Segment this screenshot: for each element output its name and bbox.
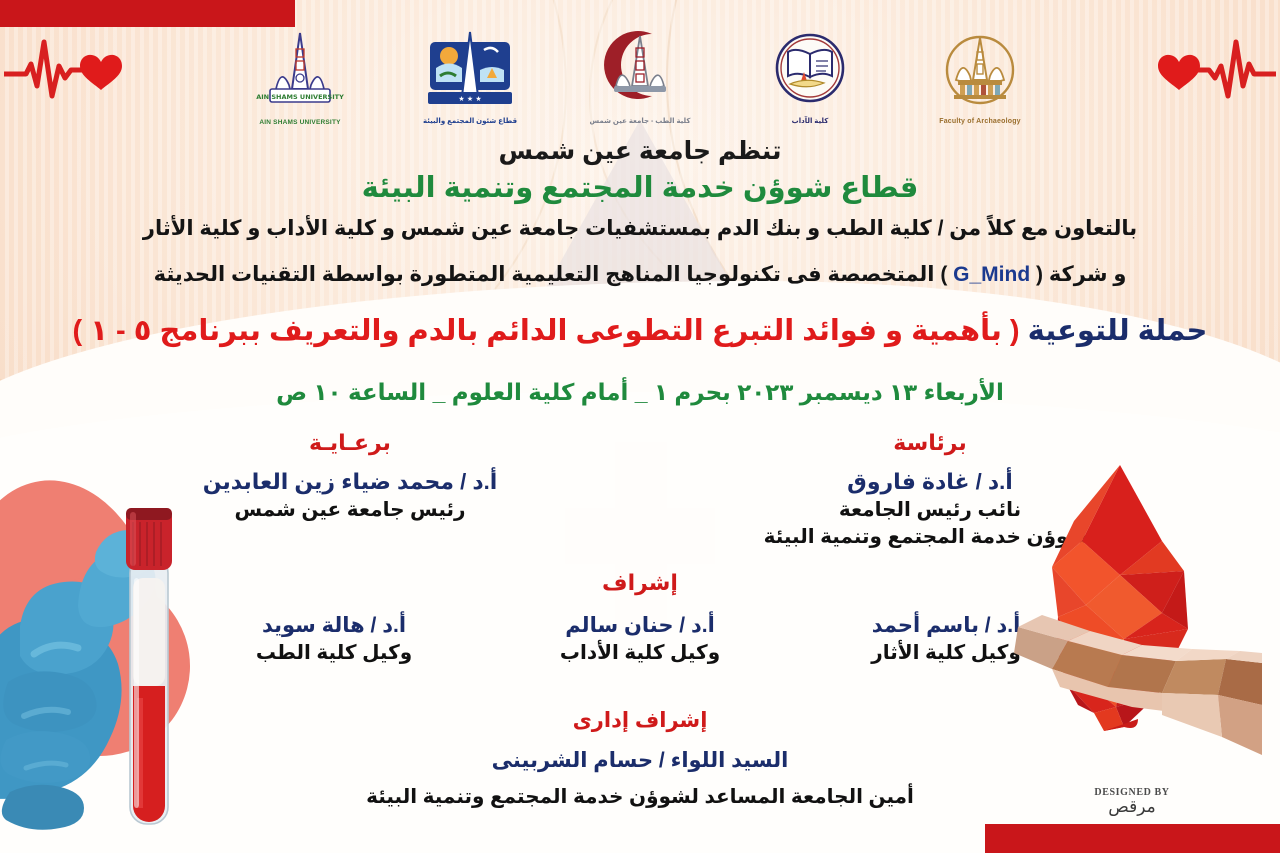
chairmanship-heading: برئاسة (715, 430, 1145, 456)
designer-signature: مرقص (1072, 798, 1192, 817)
designer-credit: DESIGNED BY مرقص (1072, 787, 1192, 817)
blood-drop-over-hand-illustration (1012, 455, 1262, 795)
bottom-right-red-bar (985, 824, 1280, 853)
ecg-heartbeat-left-icon (4, 34, 174, 104)
campaign-title: ( بأهمية و فوائد التبرع التطوعى الدائم ب… (73, 315, 1020, 347)
poster-canvas: Faculty of Archaeology كلية الآداب (0, 0, 1280, 853)
top-left-red-bar (0, 0, 295, 27)
campaign-lead: حملة للتوعية (1028, 315, 1208, 347)
cooperation-line: بالتعاون مع كلاً من / كلية الطب و بنك ال… (0, 216, 1280, 241)
organizer-line: تنظم جامعة عين شمس (0, 136, 1280, 166)
ecg-heartbeat-right-icon (1106, 34, 1276, 104)
company-prefix: و شركة ( (1030, 263, 1126, 286)
company-suffix: ) المتخصصة فى تكنولوجيا المناهج التعليمي… (154, 263, 954, 286)
campaign-datetime: الأربعاء ١٣ ديسمبر ٢٠٢٣ بحرم ١ _ أمام كل… (0, 379, 1280, 406)
campaign-title-line: حملة للتوعية ( بأهمية و فوائد التبرع الت… (0, 313, 1280, 348)
supervision-member-role: وكيل كلية الأداب (515, 640, 765, 667)
gloved-hand-holding-blood-vial (0, 448, 268, 853)
supervision-member: أ.د / حنان سالم وكيل كلية الأداب (515, 612, 765, 667)
company-name: G_Mind (953, 263, 1030, 286)
company-line: و شركة ( G_Mind ) المتخصصة فى تكنولوجيا … (0, 262, 1280, 287)
supervision-member-name: أ.د / حنان سالم (515, 612, 765, 640)
sector-line: قطاع شوؤن خدمة المجتمع وتنمية البيئة (0, 170, 1280, 205)
